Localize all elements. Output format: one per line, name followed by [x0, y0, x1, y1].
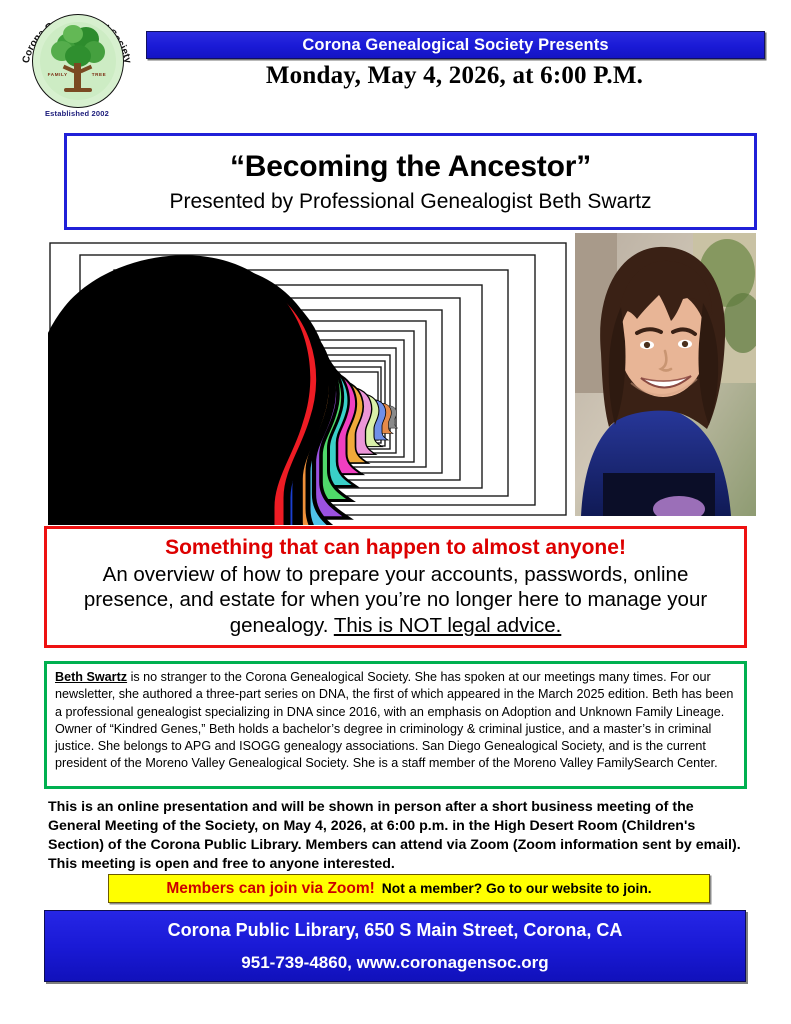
- footer-contact[interactable]: 951-739-4860, www.coronagensoc.org: [241, 953, 548, 973]
- tree-trunk: [74, 63, 81, 91]
- presentation-title: “Becoming the Ancestor”: [230, 150, 591, 184]
- summary-disclaimer: This is NOT legal advice.: [334, 614, 561, 637]
- header-banner-text: Corona Genealogical Society Presents: [302, 36, 608, 55]
- logo-family-label: FAMILY: [48, 72, 68, 77]
- logo-established-label: Established 2002: [18, 109, 136, 118]
- logo-family-tree-label: FAMILYTREE: [36, 72, 118, 77]
- header-banner: Corona Genealogical Society Presents: [146, 31, 765, 59]
- title-box: “Becoming the Ancestor” Presented by Pro…: [64, 133, 757, 230]
- speaker-bio-text: Beth Swartz is no stranger to the Corona…: [55, 669, 736, 773]
- zoom-join-banner[interactable]: Members can join via Zoom! Not a member?…: [108, 874, 710, 903]
- head-silhouettes: [48, 255, 398, 525]
- summary-red-box: Something that can happen to almost anyo…: [44, 526, 747, 648]
- ancestor-tunnel-illustration: [48, 240, 572, 525]
- logo-tree-label: TREE: [92, 72, 107, 77]
- flyer-page: Corona Genealogical Society FAMILYTREE E…: [0, 0, 791, 1024]
- meeting-details-paragraph: This is an online presentation and will …: [48, 798, 748, 874]
- tunnel-and-heads-graphic: [48, 240, 572, 525]
- logo-oval: [32, 14, 124, 108]
- speaker-bio-box: Beth Swartz is no stranger to the Corona…: [44, 661, 747, 789]
- presenter-subtitle: Presented by Professional Genealogist Be…: [169, 190, 651, 214]
- tree-base: [64, 88, 92, 92]
- speaker-photo: [575, 233, 756, 516]
- speaker-bio-name: Beth Swartz: [55, 670, 127, 684]
- zoom-join-strong: Members can join via Zoom!: [166, 880, 374, 898]
- zoom-join-rest: Not a member? Go to our website to join.: [382, 881, 652, 896]
- summary-body: An overview of how to prepare your accou…: [57, 562, 734, 639]
- summary-headline: Something that can happen to almost anyo…: [57, 536, 734, 560]
- speaker-bio-body: is no stranger to the Corona Genealogica…: [55, 670, 733, 770]
- footer-banner: Corona Public Library, 650 S Main Street…: [44, 910, 746, 982]
- speaker-photo-graphic: [575, 233, 756, 516]
- footer-address: Corona Public Library, 650 S Main Street…: [168, 920, 623, 941]
- event-date-line: Monday, May 4, 2026, at 6:00 P.M.: [146, 62, 763, 90]
- society-logo: Corona Genealogical Society FAMILYTREE E…: [18, 10, 136, 122]
